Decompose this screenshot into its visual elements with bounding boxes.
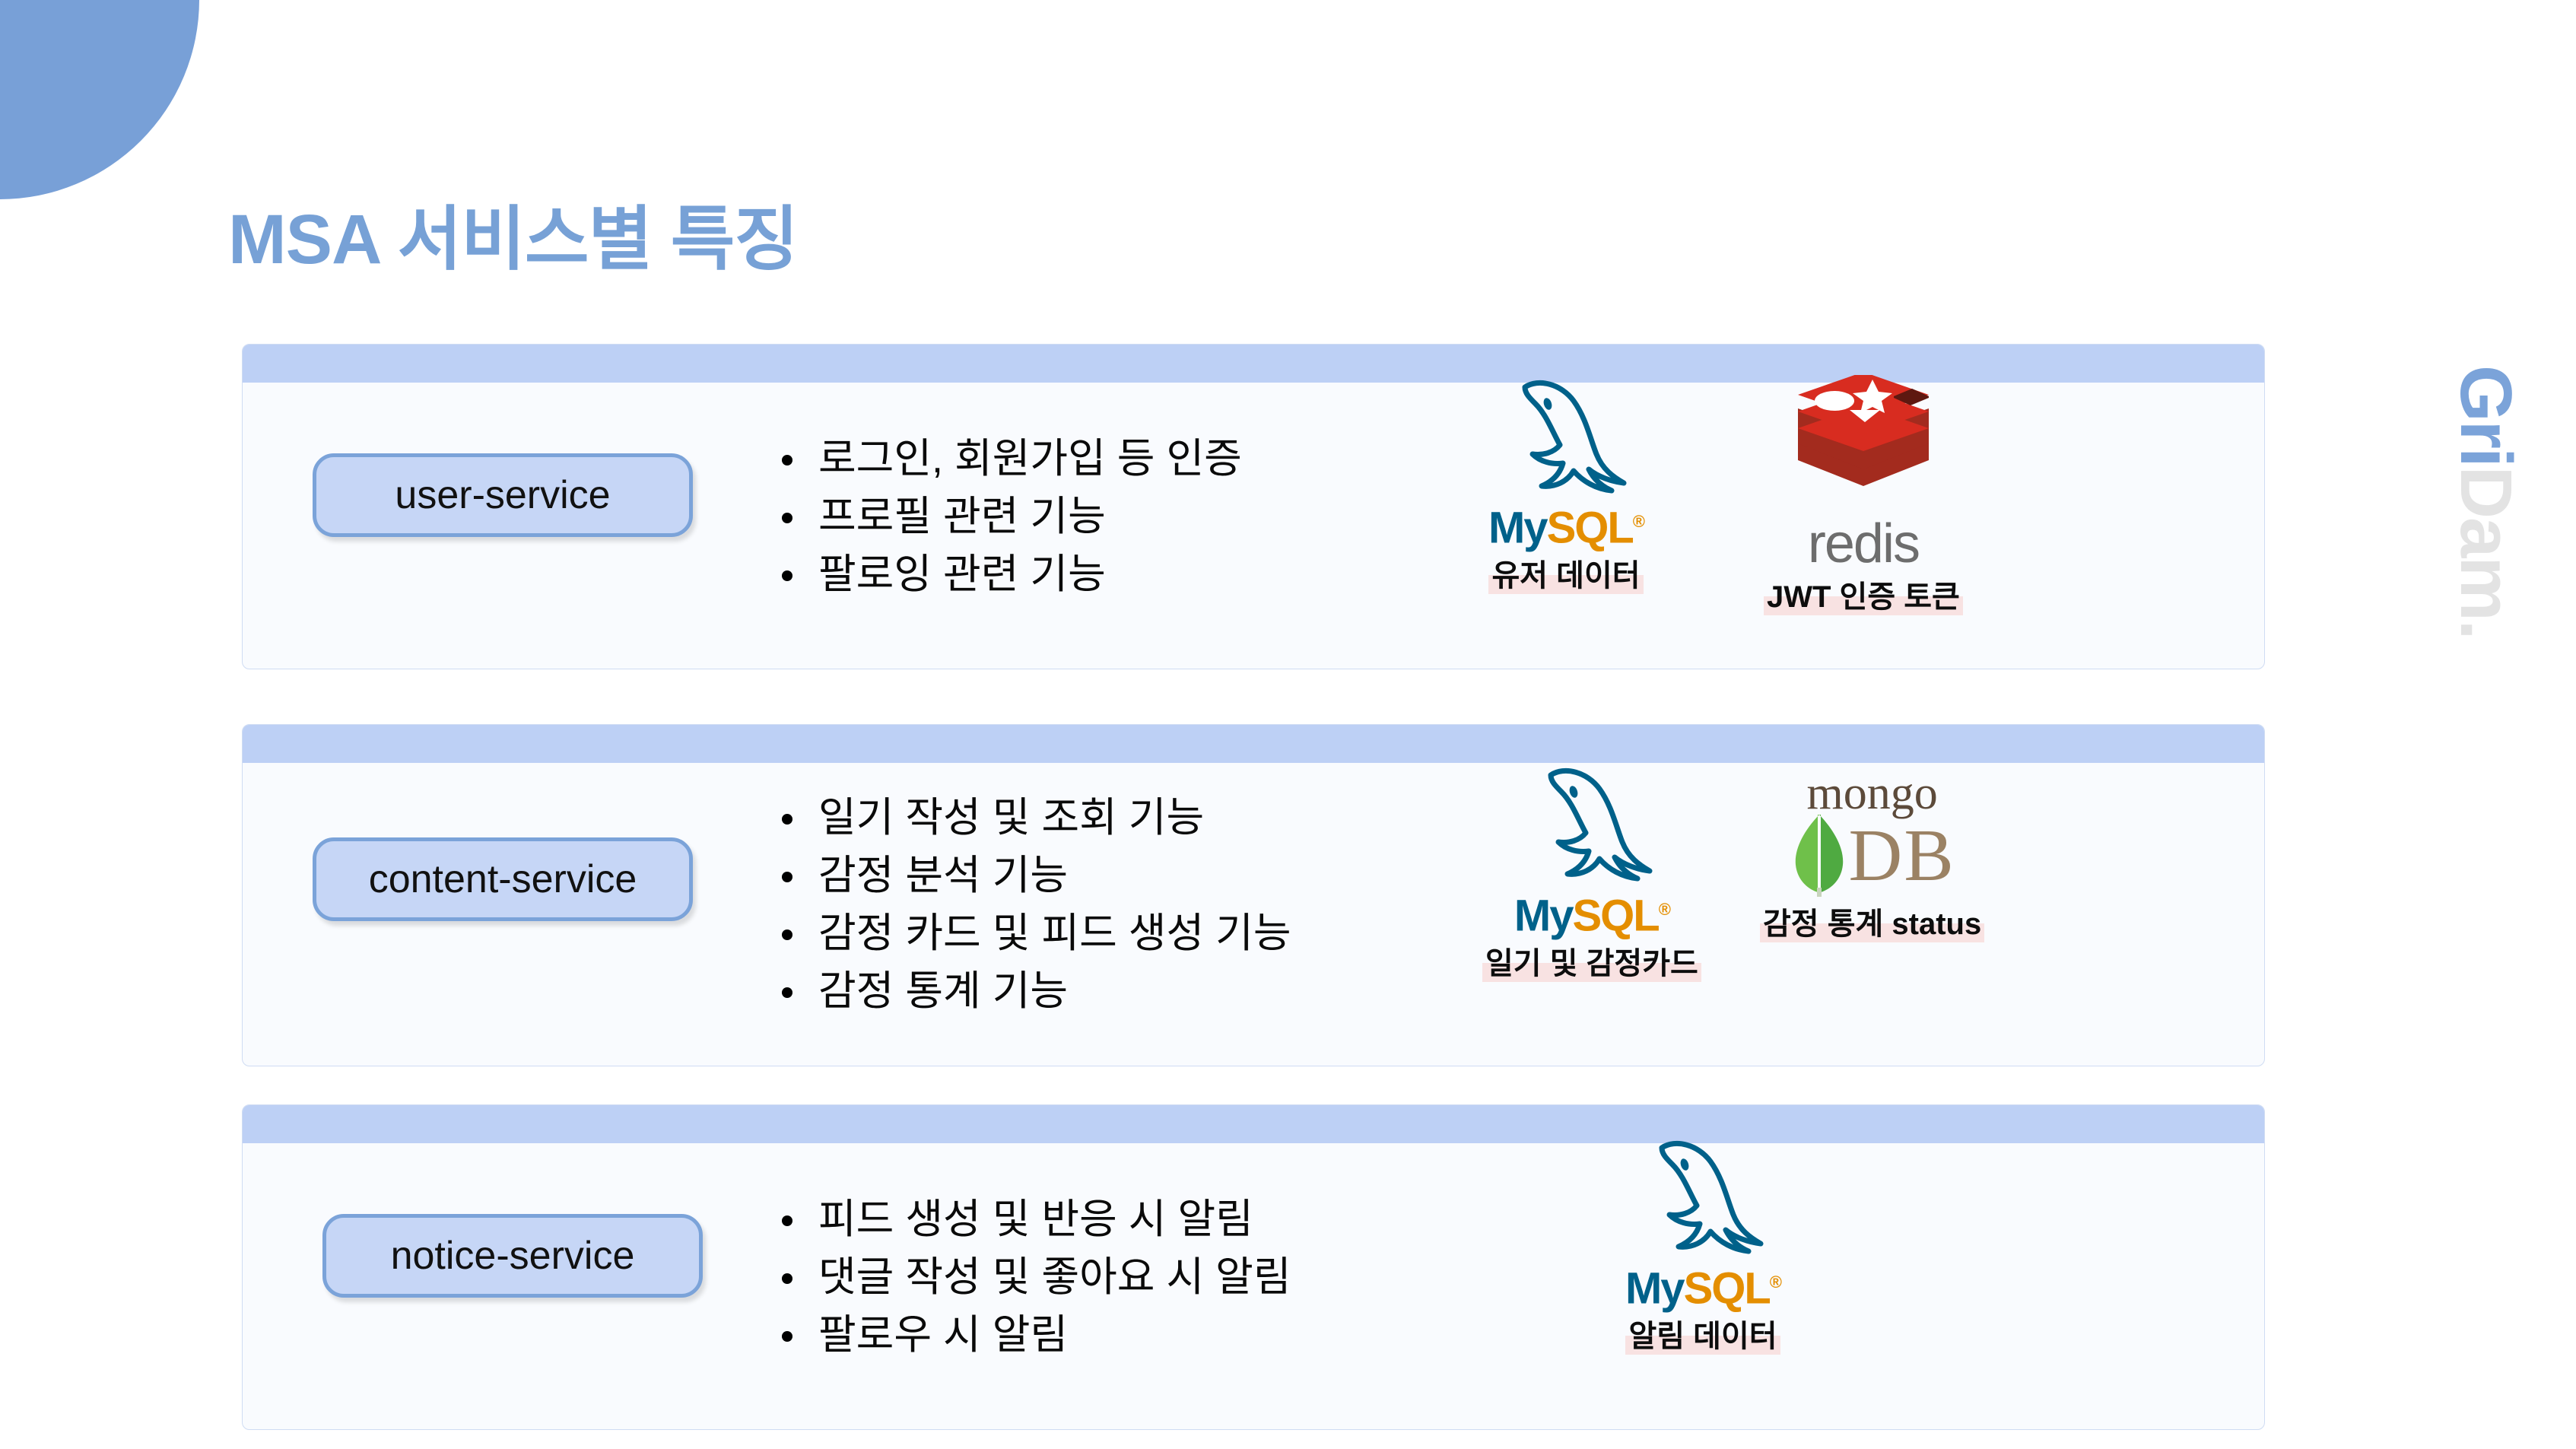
mongo-word-db: DB xyxy=(1849,821,1955,891)
service-pill-content-service[interactable]: content-service xyxy=(313,837,693,921)
datastore-caption: 감정 통계 status xyxy=(1760,906,1984,942)
mysql-dolphin-icon xyxy=(1508,763,1676,892)
service-name-label: notice-service xyxy=(391,1233,635,1279)
service-card-notice: notice-service 피드 생성 및 반응 시 알림 댓글 작성 및 좋… xyxy=(242,1104,2265,1430)
feature-list: 피드 생성 및 반응 시 알림 댓글 작성 및 좋아요 시 알림 팔로우 시 알… xyxy=(764,1190,1291,1364)
brand-watermark: GriDam. xyxy=(2440,365,2531,791)
mysql-word-my: My xyxy=(1514,891,1573,940)
datastore-caption: 유저 데이터 xyxy=(1488,558,1643,594)
redis-wordmark: redis xyxy=(1808,516,1919,571)
datastore-mysql: MySQL® 알림 데이터 xyxy=(1619,1136,1787,1355)
mongodb-leaf-icon xyxy=(1790,813,1849,898)
card-body: user-service 로그인, 회원가입 등 인증 프로필 관련 기능 팔로… xyxy=(243,383,2264,669)
card-body: notice-service 피드 생성 및 반응 시 알림 댓글 작성 및 좋… xyxy=(243,1143,2264,1429)
mysql-word-my: My xyxy=(1625,1263,1684,1313)
watermark-secondary-text: Dam. xyxy=(2445,466,2527,639)
card-body: content-service 일기 작성 및 조회 기능 감정 분석 기능 감… xyxy=(243,763,2264,1066)
mysql-dolphin-icon xyxy=(1482,375,1650,504)
list-item: 댓글 작성 및 좋아요 시 알림 xyxy=(764,1248,1291,1306)
list-item: 감정 분석 기능 xyxy=(764,847,1291,904)
mongo-word-mongo: mongo xyxy=(1807,771,1938,816)
list-item: 팔로잉 관련 기능 xyxy=(764,545,1242,603)
service-pill-notice-service[interactable]: notice-service xyxy=(322,1214,703,1298)
service-name-label: user-service xyxy=(395,472,610,518)
registered-mark: ® xyxy=(1633,512,1644,531)
mysql-wordmark: MySQL® xyxy=(1514,888,1669,938)
list-item: 프로필 관련 기능 xyxy=(764,488,1242,545)
list-item: 로그인, 회원가입 등 인증 xyxy=(764,430,1242,488)
redis-logo xyxy=(1787,375,1939,520)
datastore-caption: 일기 및 감정카드 xyxy=(1482,945,1701,982)
card-header-strip xyxy=(243,725,2264,763)
mysql-logo: MySQL® xyxy=(1482,375,1650,550)
list-item: 감정 카드 및 피드 생성 기능 xyxy=(764,904,1291,962)
mysql-wordmark: MySQL® xyxy=(1625,1260,1780,1311)
datastore-redis: redis JWT 인증 토큰 xyxy=(1764,375,1963,615)
decorative-corner-circle xyxy=(0,0,199,199)
service-pill-user-service[interactable]: user-service xyxy=(313,453,693,537)
mysql-wordmark: MySQL® xyxy=(1488,500,1644,550)
datastore-mysql: MySQL® 일기 및 감정카드 xyxy=(1482,763,1701,982)
mysql-word-sql: SQL xyxy=(1547,503,1633,552)
list-item: 일기 작성 및 조회 기능 xyxy=(764,789,1291,847)
datastore-caption: 알림 데이터 xyxy=(1625,1318,1780,1355)
datastore-mongodb: mongo DB 감정 통계 status xyxy=(1760,771,1984,942)
registered-mark: ® xyxy=(1770,1273,1780,1292)
list-item: 피드 생성 및 반응 시 알림 xyxy=(764,1190,1291,1248)
mongodb-logo: mongo DB xyxy=(1790,771,1955,898)
service-card-content: content-service 일기 작성 및 조회 기능 감정 분석 기능 감… xyxy=(242,724,2265,1066)
mongodb-bottom-row: DB xyxy=(1790,813,1955,898)
card-header-strip xyxy=(243,1105,2264,1143)
mysql-logo: MySQL® xyxy=(1508,763,1676,938)
service-name-label: content-service xyxy=(369,856,637,902)
list-item: 팔로우 시 알림 xyxy=(764,1306,1291,1364)
datastore-mysql: MySQL® 유저 데이터 xyxy=(1482,375,1650,594)
mysql-logo: MySQL® xyxy=(1619,1136,1787,1311)
watermark-primary-text: Gri xyxy=(2445,365,2527,466)
service-card-user: user-service 로그인, 회원가입 등 인증 프로필 관련 기능 팔로… xyxy=(242,344,2265,669)
feature-list: 로그인, 회원가입 등 인증 프로필 관련 기능 팔로잉 관련 기능 xyxy=(764,430,1242,603)
page-title: MSA 서비스별 특징 xyxy=(228,183,798,284)
datastore-caption: JWT 인증 토큰 xyxy=(1764,579,1963,615)
list-item: 감정 통계 기능 xyxy=(764,962,1291,1020)
mysql-word-my: My xyxy=(1488,503,1547,552)
feature-list: 일기 작성 및 조회 기능 감정 분석 기능 감정 카드 및 피드 생성 기능 … xyxy=(764,789,1291,1020)
mysql-word-sql: SQL xyxy=(1572,891,1658,940)
mysql-word-sql: SQL xyxy=(1684,1263,1770,1313)
registered-mark: ® xyxy=(1659,900,1669,919)
mysql-dolphin-icon xyxy=(1619,1136,1787,1265)
